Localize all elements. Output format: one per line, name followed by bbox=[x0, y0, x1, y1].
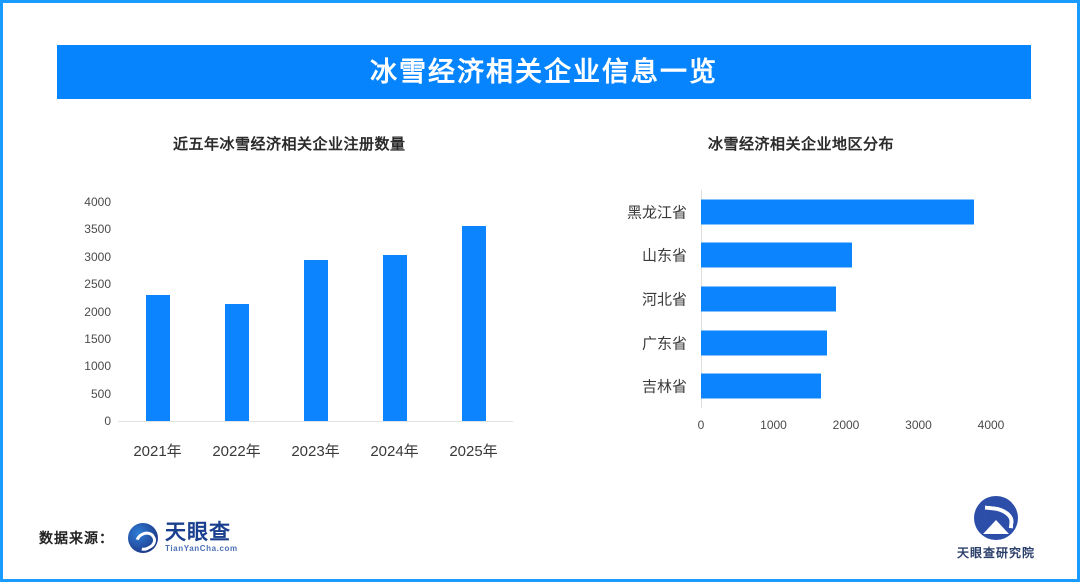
y-category-label: 黑龙江省 bbox=[627, 201, 687, 222]
plot-area-vertical: 2021年2022年2023年2024年2025年 bbox=[118, 202, 513, 421]
bar-horizontal bbox=[701, 243, 852, 268]
research-institute-brand: 天眼查研究院 bbox=[957, 496, 1035, 561]
y-tick-label: 3000 bbox=[84, 250, 111, 264]
chart-registrations: 05001000150020002500300035004000 2021年20… bbox=[63, 202, 523, 457]
y-category-label: 广东省 bbox=[642, 332, 687, 353]
bar-horizontal bbox=[701, 199, 974, 224]
x-tick-label: 3000 bbox=[905, 418, 932, 432]
chart-regions-panel: 冰雪经济相关企业地区分布 黑龙江省山东省河北省广东省吉林省01000200030… bbox=[583, 133, 1043, 493]
x-category-label: 2023年 bbox=[291, 440, 339, 461]
bar-horizontal bbox=[701, 287, 836, 312]
tianyancha-wordmark: 天眼查 TianYanCha.com bbox=[165, 522, 238, 553]
data-source: 数据来源： 天眼查 TianYanCha.com bbox=[39, 522, 238, 553]
chart-regions-title: 冰雪经济相关企业地区分布 bbox=[708, 133, 1043, 154]
y-tick-label: 500 bbox=[91, 387, 111, 401]
tianyancha-name-cn: 天眼查 bbox=[165, 522, 238, 543]
x-category-label: 2024年 bbox=[370, 440, 418, 461]
page-title: 冰雪经济相关企业信息一览 bbox=[370, 59, 718, 86]
tianyancha-eye-icon bbox=[128, 523, 158, 553]
bar-horizontal bbox=[701, 374, 821, 399]
chart-regions: 黑龙江省山东省河北省广东省吉林省01000200030004000 bbox=[583, 190, 1033, 460]
chart-registrations-title: 近五年冰雪经济相关企业注册数量 bbox=[173, 133, 543, 154]
bar-vertical bbox=[146, 295, 170, 421]
x-tick-label: 2000 bbox=[833, 418, 860, 432]
chart-registrations-panel: 近五年冰雪经济相关企业注册数量 050010001500200025003000… bbox=[63, 133, 543, 493]
x-category-label: 2022年 bbox=[212, 440, 260, 461]
research-institute-icon bbox=[974, 496, 1018, 540]
bar-horizontal bbox=[701, 330, 827, 355]
bar-vertical bbox=[304, 260, 328, 422]
y-tick-label: 0 bbox=[104, 414, 111, 428]
x-tick-label: 4000 bbox=[978, 418, 1005, 432]
tianyancha-name-en: TianYanCha.com bbox=[165, 545, 238, 553]
x-category-label: 2021年 bbox=[133, 440, 181, 461]
plot-area-horizontal: 黑龙江省山东省河北省广东省吉林省01000200030004000 bbox=[701, 190, 991, 408]
y-tick-label: 1500 bbox=[84, 332, 111, 346]
y-tick-label: 2000 bbox=[84, 305, 111, 319]
y-category-label: 河北省 bbox=[642, 289, 687, 310]
y-tick-label: 3500 bbox=[84, 222, 111, 236]
y-category-label: 吉林省 bbox=[642, 376, 687, 397]
x-tick-label: 1000 bbox=[760, 418, 787, 432]
bar-vertical bbox=[462, 226, 486, 421]
bar-vertical bbox=[383, 255, 407, 421]
x-axis-line bbox=[118, 421, 513, 422]
y-axis-ticks: 05001000150020002500300035004000 bbox=[63, 202, 111, 421]
infographic-page: 冰雪经济相关企业信息一览 近五年冰雪经济相关企业注册数量 05001000150… bbox=[0, 0, 1080, 582]
y-tick-label: 4000 bbox=[84, 195, 111, 209]
tianyancha-logo: 天眼查 TianYanCha.com bbox=[128, 522, 238, 553]
x-tick-label: 0 bbox=[698, 418, 705, 432]
data-source-label: 数据来源： bbox=[39, 528, 114, 548]
bar-vertical bbox=[225, 304, 249, 421]
y-tick-label: 1000 bbox=[84, 359, 111, 373]
title-banner: 冰雪经济相关企业信息一览 bbox=[57, 45, 1031, 99]
research-institute-label: 天眼查研究院 bbox=[957, 544, 1035, 561]
y-tick-label: 2500 bbox=[84, 277, 111, 291]
y-category-label: 山东省 bbox=[642, 245, 687, 266]
x-category-label: 2025年 bbox=[449, 440, 497, 461]
